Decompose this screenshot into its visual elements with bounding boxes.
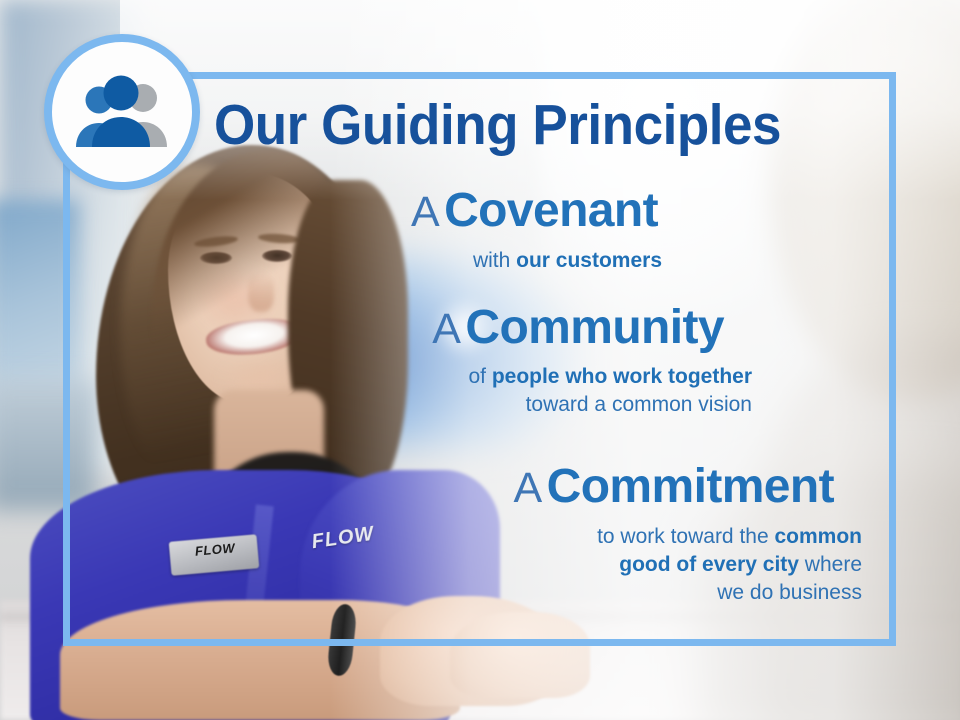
principle-covenant-heading: A Covenant: [0, 186, 686, 235]
principle-community: A Community of people who work together …: [0, 303, 752, 419]
guiding-principles-graphic: FLOW FLOW Our Guiding Princip: [0, 0, 960, 720]
principle-community-sub-plain-2: toward a common vision: [526, 393, 752, 416]
page-title: Our Guiding Principles: [214, 96, 828, 154]
principle-covenant-article: A: [411, 188, 440, 236]
principle-commitment-subtext: to work toward the common good of every …: [0, 523, 862, 607]
principle-covenant-word: Covenant: [444, 184, 658, 237]
principle-covenant-sub-plain: with: [473, 249, 516, 272]
principle-commitment-sub-bold-2: good of every city: [619, 553, 799, 576]
principle-community-subtext: of people who work together toward a com…: [0, 363, 752, 419]
text-content: Our Guiding Principles A Covenant with o…: [0, 0, 960, 720]
principle-commitment-article: A: [514, 464, 543, 512]
principle-community-article: A: [432, 305, 461, 353]
principle-commitment-sub-plain-1: to work toward the: [597, 525, 774, 548]
principle-covenant-subtext: with our customers: [0, 247, 686, 275]
principle-community-heading: A Community: [0, 303, 752, 352]
principle-community-word: Community: [465, 301, 724, 354]
principle-commitment: A Commitment to work toward the common g…: [0, 462, 862, 607]
principle-commitment-heading: A Commitment: [0, 462, 862, 511]
principle-covenant-sub-bold: our customers: [516, 249, 662, 272]
principle-commitment-sub-plain-3: we do business: [717, 581, 862, 604]
principle-commitment-sub-bold-1: common: [774, 525, 862, 548]
principle-commitment-sub-plain-2: where: [799, 553, 862, 576]
principle-community-sub-plain-1: of: [468, 365, 491, 388]
principle-community-sub-bold-1: people who work together: [492, 365, 752, 388]
principle-commitment-word: Commitment: [547, 460, 834, 513]
principle-covenant: A Covenant with our customers: [0, 186, 686, 275]
